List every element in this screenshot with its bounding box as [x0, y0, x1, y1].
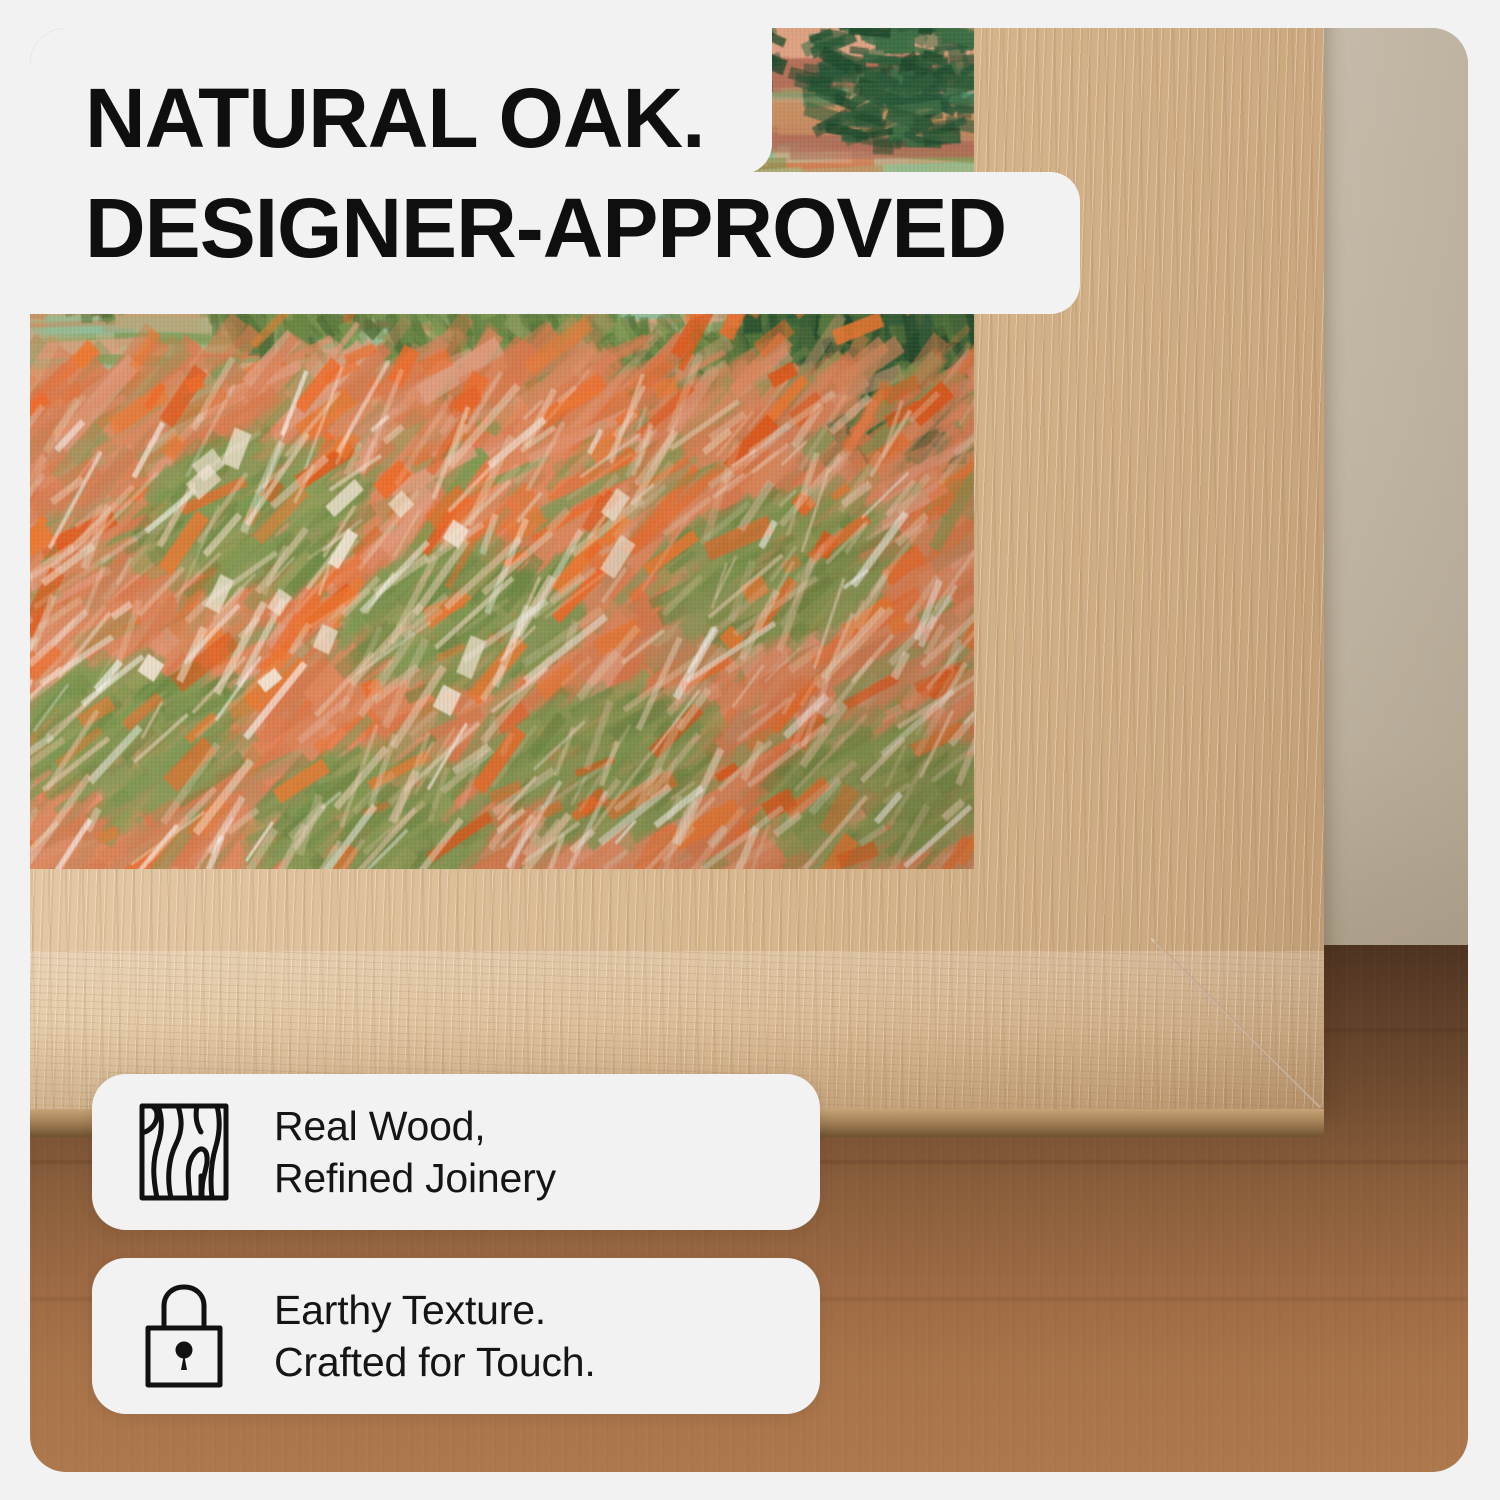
feature-badge-line-1: Earthy Texture.	[274, 1284, 596, 1336]
feature-badge-real-wood: Real Wood, Refined Joinery	[92, 1074, 820, 1230]
feature-badge-line-1: Real Wood,	[274, 1100, 556, 1152]
feature-badge-line-2: Refined Joinery	[274, 1152, 556, 1204]
headline-line-1: NATURAL OAK.	[30, 28, 772, 174]
product-marketing-image: NATURAL OAK. DESIGNER-APPROVED	[0, 0, 1500, 1500]
wood-grain-icon	[136, 1102, 232, 1202]
feature-badge-earthy-texture: Earthy Texture. Crafted for Touch.	[92, 1258, 820, 1414]
feature-badge-list: Real Wood, Refined Joinery Earthy Textur…	[92, 1074, 820, 1414]
headline-line-2: DESIGNER-APPROVED	[30, 172, 1080, 314]
feature-badge-text: Earthy Texture. Crafted for Touch.	[274, 1284, 596, 1388]
product-photo: NATURAL OAK. DESIGNER-APPROVED	[30, 28, 1468, 1472]
frame-miter-highlight	[1151, 938, 1321, 1108]
lock-icon	[136, 1284, 232, 1388]
feature-badge-line-2: Crafted for Touch.	[274, 1336, 596, 1388]
feature-badge-text: Real Wood, Refined Joinery	[274, 1100, 556, 1204]
headline-overlay: NATURAL OAK. DESIGNER-APPROVED	[30, 28, 1080, 314]
